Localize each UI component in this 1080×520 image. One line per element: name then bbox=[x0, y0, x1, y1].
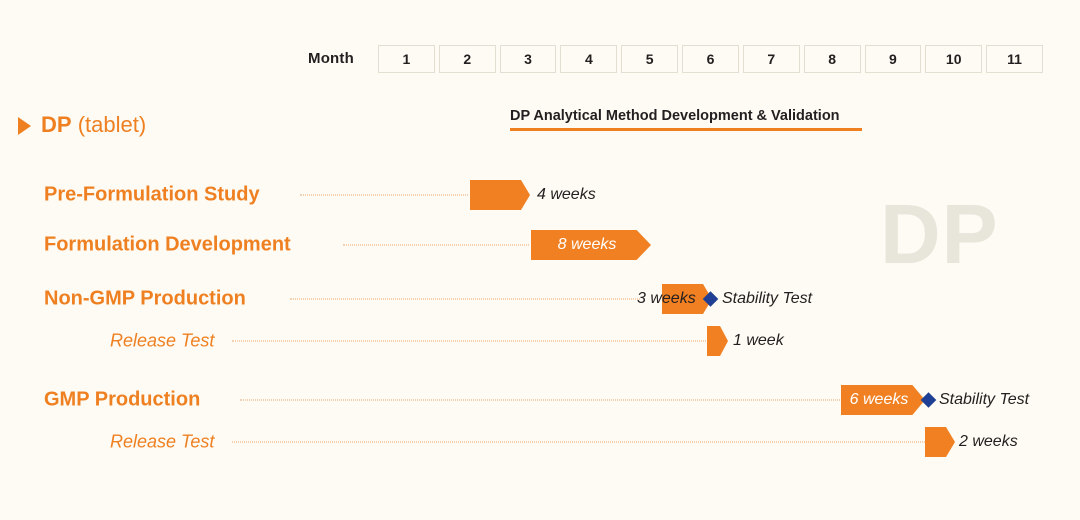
gantt-chart-canvas: DP Month 1 2 3 4 5 6 7 8 9 10 11 DP (tab… bbox=[0, 0, 1080, 520]
month-cell-3[interactable]: 3 bbox=[500, 45, 557, 73]
gantt-bar[interactable]: 8 weeks bbox=[531, 230, 651, 260]
month-axis-label: Month bbox=[308, 50, 354, 67]
group-title-light: (tablet) bbox=[78, 112, 146, 137]
group-header-dp[interactable]: DP (tablet) bbox=[18, 112, 146, 138]
task-row: Non-GMP Production 3 weeks Stability Tes… bbox=[0, 277, 1080, 321]
month-cell-7[interactable]: 7 bbox=[743, 45, 800, 73]
task-label: GMP Production bbox=[44, 389, 200, 412]
duration-label: 2 weeks bbox=[959, 433, 1018, 451]
group-title: DP (tablet) bbox=[41, 112, 146, 138]
task-label: Release Test bbox=[110, 432, 214, 453]
banner-label: DP Analytical Method Development & Valid… bbox=[510, 108, 862, 124]
duration-label: 3 weeks bbox=[637, 290, 696, 308]
month-cell-1[interactable]: 1 bbox=[378, 45, 435, 73]
task-row: Pre-Formulation Study 4 weeks bbox=[0, 173, 1080, 217]
leader-line bbox=[300, 195, 468, 196]
gantt-bar[interactable]: 6 weeks bbox=[841, 385, 925, 415]
banner-underline bbox=[510, 128, 862, 131]
milestone-diamond-icon[interactable] bbox=[921, 392, 937, 408]
task-row: GMP Production 6 weeks Stability Test bbox=[0, 378, 1080, 422]
milestone-label: Stability Test bbox=[722, 290, 812, 308]
task-label: Formulation Development bbox=[44, 234, 291, 257]
leader-line bbox=[232, 442, 925, 443]
month-header-track: 1 2 3 4 5 6 7 8 9 10 11 bbox=[378, 45, 1043, 73]
task-label: Release Test bbox=[110, 331, 214, 352]
gantt-bar[interactable] bbox=[470, 180, 530, 210]
task-label: Non-GMP Production bbox=[44, 288, 246, 311]
duration-label: 4 weeks bbox=[537, 186, 596, 204]
leader-line bbox=[232, 341, 706, 342]
month-cell-2[interactable]: 2 bbox=[439, 45, 496, 73]
milestone-label: Stability Test bbox=[939, 391, 1029, 409]
leader-line bbox=[240, 400, 840, 401]
month-cell-5[interactable]: 5 bbox=[621, 45, 678, 73]
gantt-bar[interactable] bbox=[707, 326, 728, 356]
triangle-right-icon bbox=[18, 117, 31, 135]
month-cell-9[interactable]: 9 bbox=[865, 45, 922, 73]
task-row: Formulation Development 8 weeks bbox=[0, 223, 1080, 267]
month-cell-6[interactable]: 6 bbox=[682, 45, 739, 73]
leader-line bbox=[290, 299, 640, 300]
analytical-method-banner: DP Analytical Method Development & Valid… bbox=[510, 108, 862, 131]
duration-label: 6 weeks bbox=[850, 391, 917, 409]
month-cell-10[interactable]: 10 bbox=[925, 45, 982, 73]
gantt-bar[interactable] bbox=[925, 427, 955, 457]
task-row: Release Test 1 week bbox=[0, 319, 1080, 363]
task-row: Release Test 2 weeks bbox=[0, 420, 1080, 464]
group-title-bold: DP bbox=[41, 112, 72, 137]
month-cell-4[interactable]: 4 bbox=[560, 45, 617, 73]
month-cell-8[interactable]: 8 bbox=[804, 45, 861, 73]
month-cell-11[interactable]: 11 bbox=[986, 45, 1043, 73]
task-label: Pre-Formulation Study bbox=[44, 184, 260, 207]
duration-label: 8 weeks bbox=[558, 236, 625, 254]
duration-label: 1 week bbox=[733, 332, 784, 350]
leader-line bbox=[343, 245, 529, 246]
